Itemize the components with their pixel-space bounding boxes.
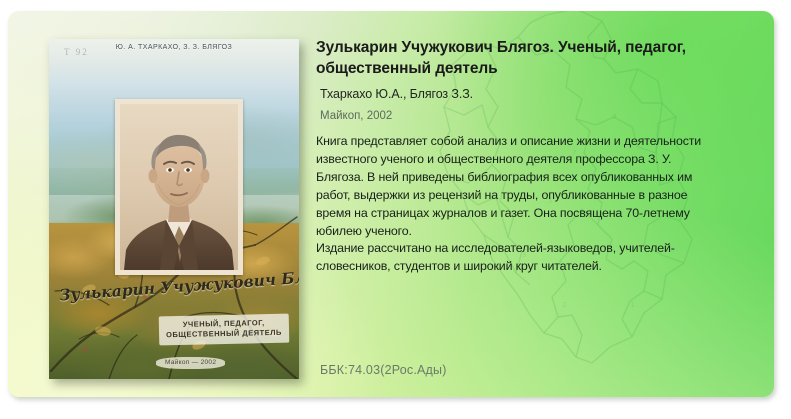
book-title: Зулькарин Учужукович Блягоз. Ученый, пед… bbox=[316, 38, 716, 79]
cover-subtitle-box: УЧЕНЫЙ, ПЕДАГОГ, ОБЩЕСТВЕННЫЙ ДЕЯТЕЛЬ bbox=[159, 314, 289, 346]
book-place-year: Майкоп, 2002 bbox=[320, 110, 716, 122]
cover-authors-line: Ю. А. ТХАРКАХО, З. З. БЛЯГОЗ bbox=[49, 44, 299, 51]
cover-subtitle-line2: ОБЩЕСТВЕННЫЙ ДЕЯТЕЛЬ bbox=[166, 328, 282, 341]
book-description-paragraph-1: Книга представляет собой анализ и описан… bbox=[316, 133, 716, 240]
book-description-paragraph-2: Издание рассчитано на исследователей-язы… bbox=[316, 240, 716, 276]
cover-portrait-frame bbox=[115, 99, 243, 275]
bbk-classification-code: ББК:74.03(2Рос.Ады) bbox=[320, 363, 447, 377]
book-authors: Тхаркахо Ю.А., Блягоз З.З. bbox=[320, 87, 716, 101]
svg-text:2: 2 bbox=[562, 301, 566, 309]
book-cover-artwork: Т 92 Ю. А. ТХАРКАХО, З. З. БЛЯГОЗ bbox=[49, 39, 299, 379]
book-description: Книга представляет собой анализ и описан… bbox=[316, 133, 716, 276]
svg-text:1: 1 bbox=[630, 301, 634, 309]
book-info-card: 9 7 5 6 3 4 2 1 bbox=[8, 11, 774, 397]
cover-imprint: Майкоп — 2002 bbox=[156, 357, 225, 369]
book-info-column: Зулькарин Учужукович Блягоз. Ученый, пед… bbox=[316, 38, 716, 276]
cover-portrait-photo bbox=[120, 104, 238, 270]
book-cover-image[interactable]: Т 92 Ю. А. ТХАРКАХО, З. З. БЛЯГОЗ bbox=[49, 39, 299, 379]
